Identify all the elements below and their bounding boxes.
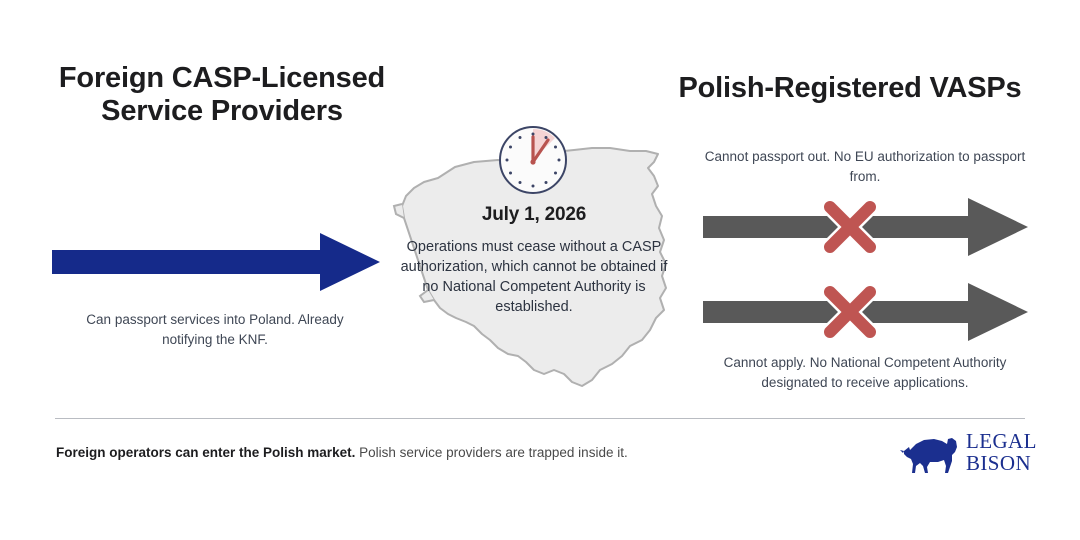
footer-summary-rest: Polish service providers are trapped ins… [355,445,627,460]
infographic-canvas: Foreign CASP-Licensed Service Providers … [0,0,1080,540]
right-column-title: Polish-Registered VASPs [650,72,1050,105]
right-column-caption-bottom: Cannot apply. No National Competent Auth… [693,353,1037,394]
left-column-caption: Can passport services into Poland. Alrea… [62,310,368,351]
deadline-description: Operations must cease without a CASP aut… [396,237,672,317]
footer-summary: Foreign operators can enter the Polish m… [56,444,628,463]
brand-wordmark: LEGAL BISON [966,430,1032,475]
brand-wordmark-line1: LEGAL [966,430,1032,452]
blocked-x-icon-1 [813,190,887,264]
bison-icon [900,433,962,477]
blocked-x-icon-2 [813,275,887,349]
brand-logo: LEGAL BISON [900,430,1028,482]
left-column-title: Foreign CASP-Licensed Service Providers [32,62,412,128]
footer-divider [55,418,1025,419]
deadline-date: July 1, 2026 [396,204,672,226]
left-flow-arrow [52,233,380,291]
clock-icon [495,122,571,198]
brand-wordmark-line2: BISON [966,452,1032,474]
poland-map-block: July 1, 2026 Operations must cease witho… [378,118,690,408]
map-text-block: July 1, 2026 Operations must cease witho… [396,204,672,317]
right-column-caption-top: Cannot passport out. No EU authorization… [693,147,1037,188]
footer-summary-strong: Foreign operators can enter the Polish m… [56,445,355,460]
